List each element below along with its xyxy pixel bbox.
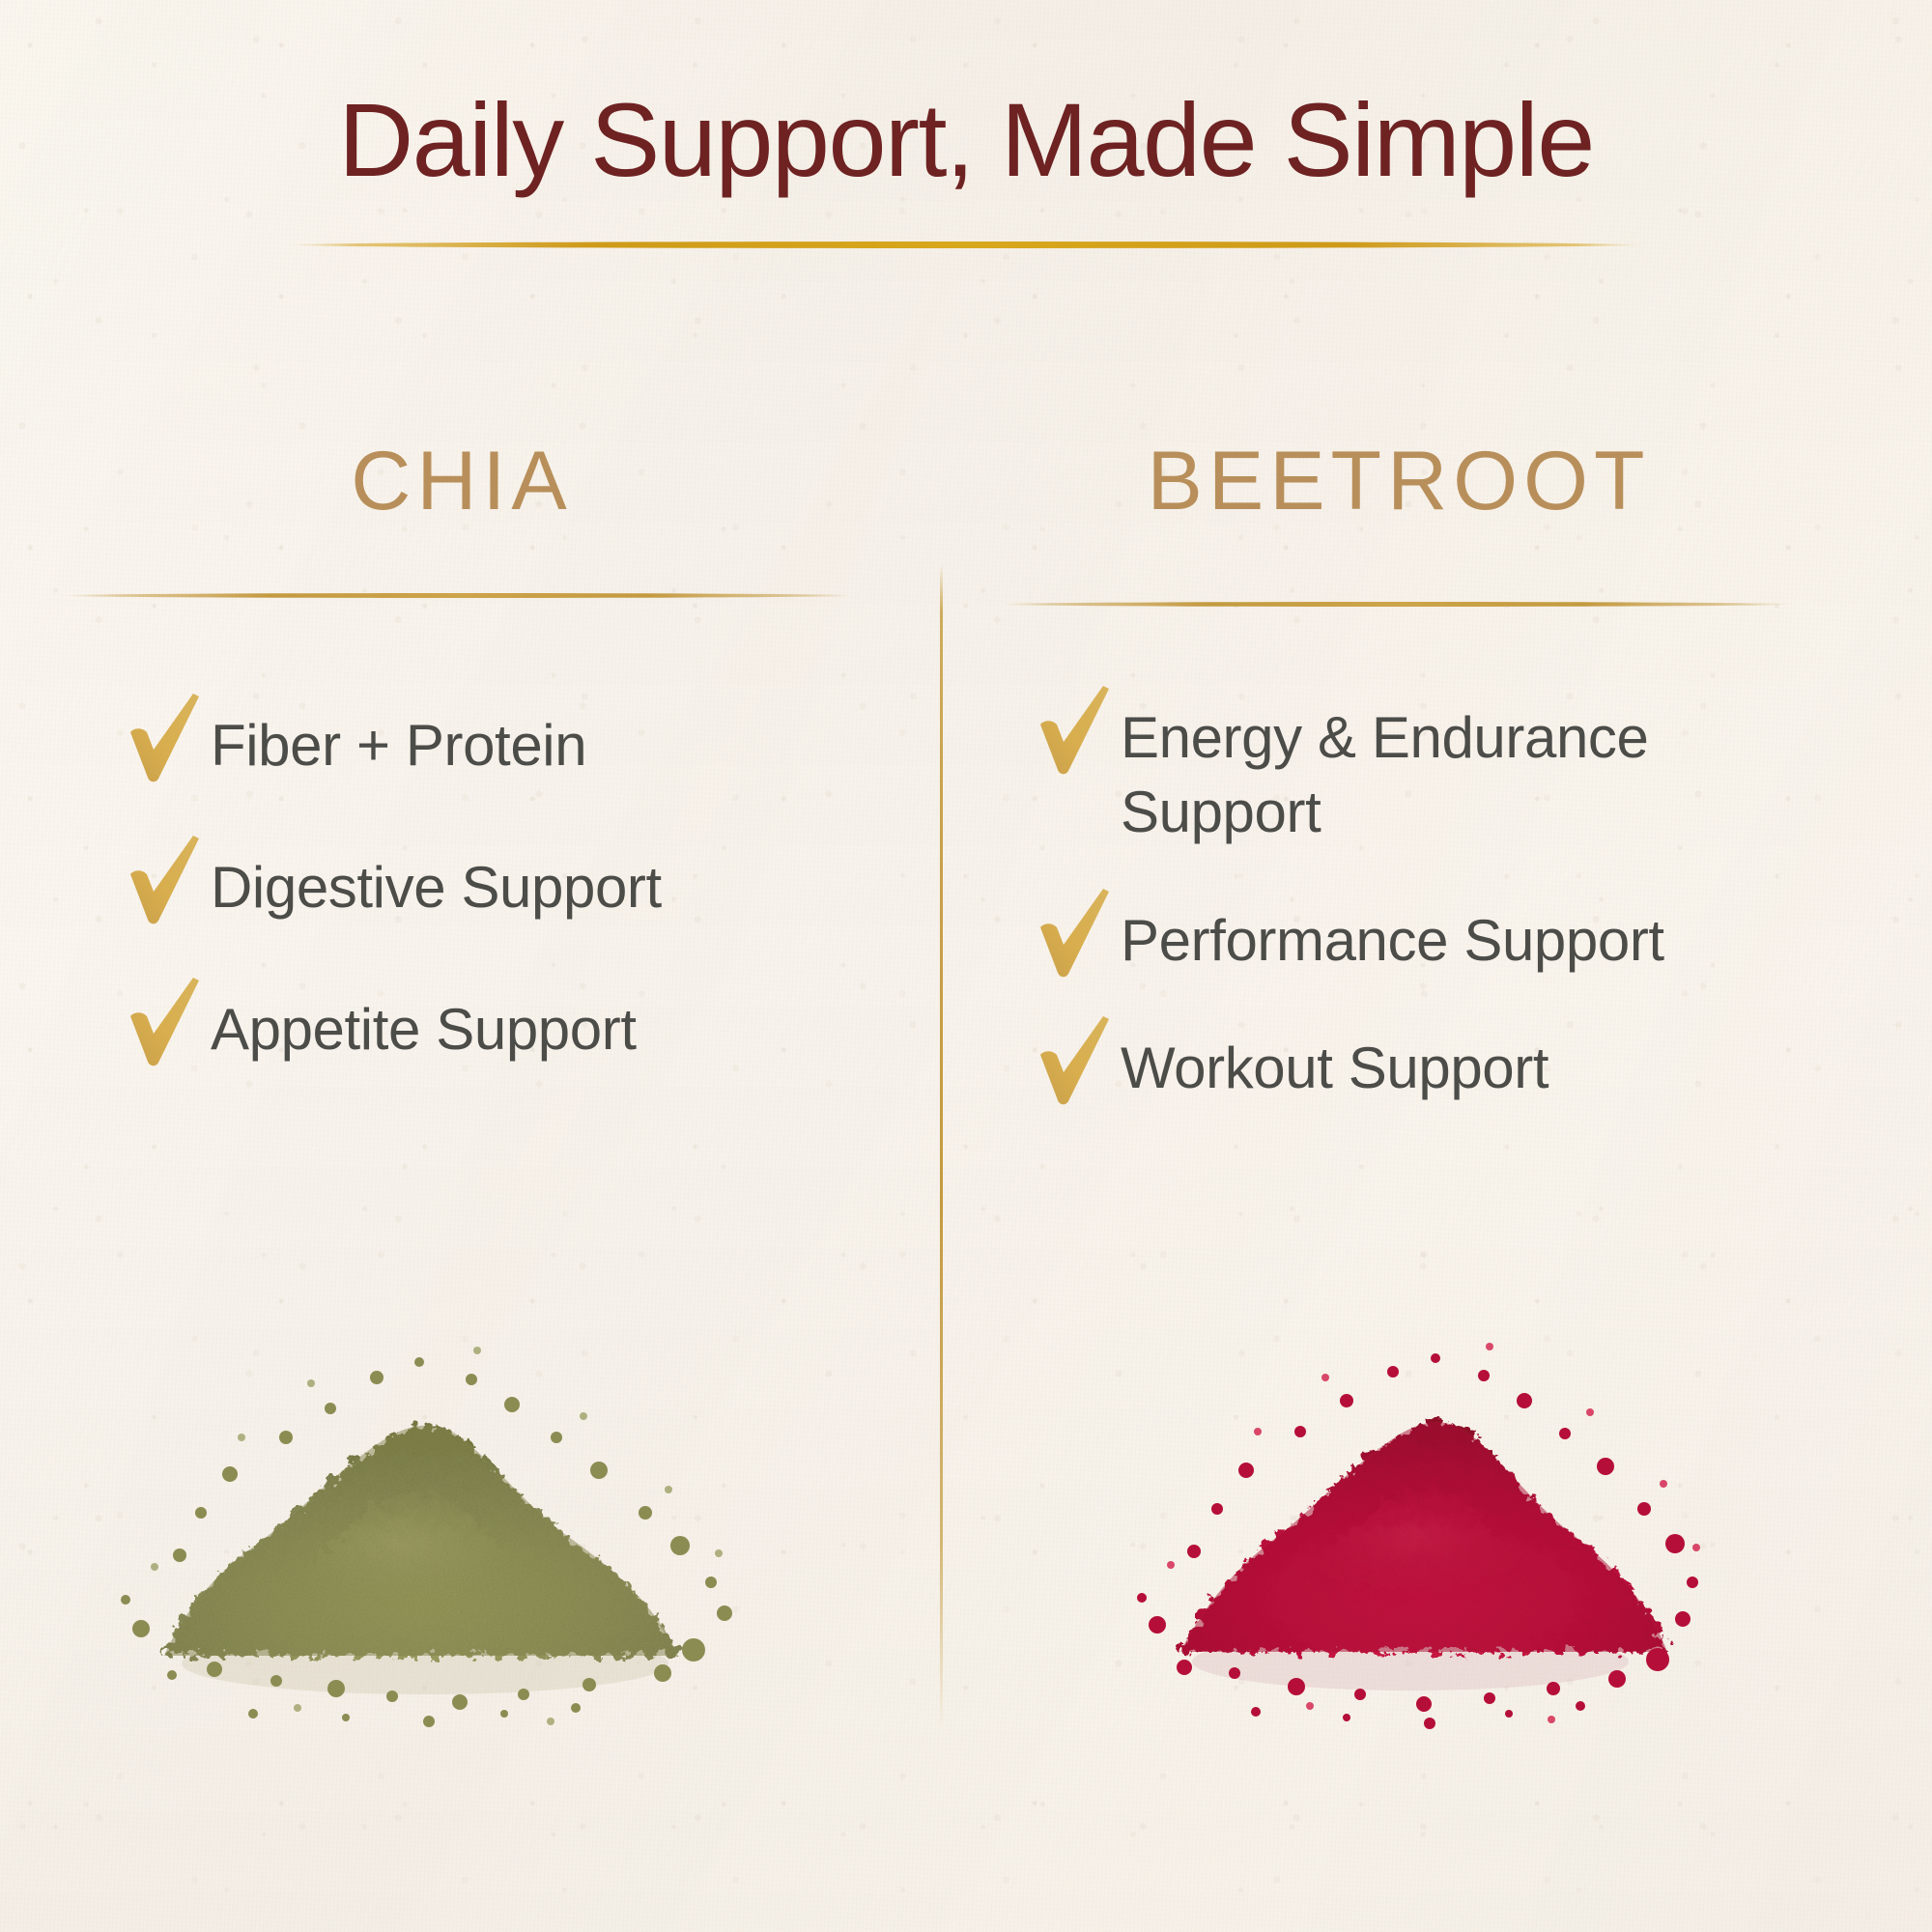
gold-lens-rule-icon [63, 593, 855, 598]
gold-checkmark-icon [1034, 682, 1117, 775]
column-rule-chia [63, 591, 855, 600]
vertical-divider [940, 565, 943, 1729]
column-rule-beetroot [1000, 600, 1792, 609]
list-item: Performance Support [1034, 900, 1806, 979]
benefit-label: Energy & Endurance Support [1121, 697, 1739, 850]
gold-checkmark-icon [124, 832, 207, 924]
benefit-label: Workout Support [1121, 1028, 1548, 1106]
benefit-list-beetroot: Energy & Endurance Support Performance S… [1034, 697, 1806, 1156]
gold-checkmark-icon [1034, 1012, 1117, 1105]
benefit-label: Performance Support [1121, 900, 1664, 979]
gold-checkmark-icon [124, 690, 207, 782]
list-item: Fiber + Protein [124, 705, 877, 783]
infographic-canvas: Daily Support, Made Simple CHIA [0, 0, 1932, 1932]
list-item: Workout Support [1034, 1028, 1806, 1106]
comparison-columns: CHIA [0, 0, 1932, 1932]
benefit-label: Appetite Support [211, 989, 637, 1067]
benefit-list-chia: Fiber + Protein Digestive Support [124, 705, 877, 1130]
column-heading-chia: CHIA [58, 440, 860, 523]
list-item: Energy & Endurance Support [1034, 697, 1806, 850]
benefit-label: Digestive Support [211, 847, 662, 925]
gold-lens-rule-icon [1000, 602, 1792, 607]
gold-checkmark-icon [124, 974, 207, 1066]
benefit-label: Fiber + Protein [211, 705, 586, 783]
column-heading-beetroot: BEETROOT [995, 440, 1797, 523]
list-item: Digestive Support [124, 847, 877, 925]
gold-checkmark-icon [1034, 885, 1117, 978]
list-item: Appetite Support [124, 989, 877, 1067]
